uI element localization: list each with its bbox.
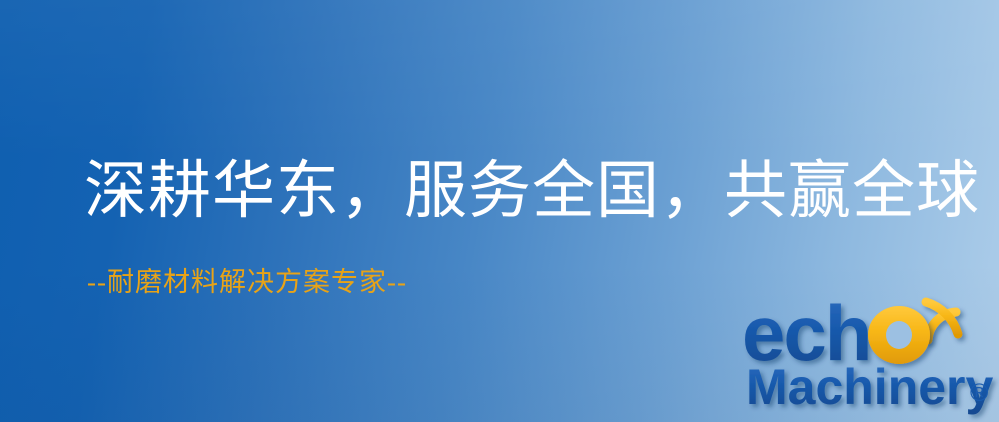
banner-headline: 深耕华东，服务全国，共赢全球	[84, 152, 980, 230]
echo-tagline: Machinery ®	[746, 359, 994, 415]
machinery-text: Machinery	[746, 359, 994, 415]
promo-banner: 深耕华东，服务全国，共赢全球 --耐磨材料解决方案专家--	[0, 0, 999, 422]
echo-machinery-logo[interactable]: ech Machinery ®	[742, 288, 999, 422]
echo-letter-o-gold	[868, 306, 930, 364]
echo-signal-arcs-icon	[926, 302, 958, 340]
registered-trademark-icon: ®	[970, 379, 989, 407]
banner-subtitle: --耐磨材料解决方案专家--	[87, 266, 407, 298]
